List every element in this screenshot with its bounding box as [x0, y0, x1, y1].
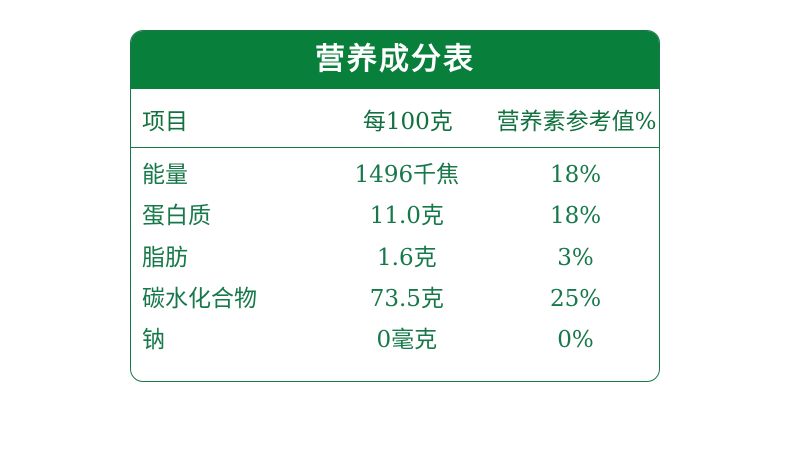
row-nrv: 0% — [490, 319, 659, 360]
row-amount: 0毫克 — [332, 319, 490, 360]
table-header: 项目 每100克 营养素参考值% — [131, 89, 659, 148]
page-title: 营养成分表 — [315, 45, 475, 75]
row-label: 蛋白质 — [131, 195, 332, 236]
table-row: 脂肪 1.6克 3% — [131, 237, 659, 278]
row-label: 能量 — [131, 148, 332, 196]
column-header-item: 项目 — [131, 89, 332, 148]
nutrition-facts-card: 营养成分表 项目 每100克 营养素参考值% 能量 1496千焦 18% 蛋白质… — [130, 30, 660, 382]
row-nrv: 3% — [490, 237, 659, 278]
table-row: 蛋白质 11.0克 18% — [131, 195, 659, 236]
row-label: 碳水化合物 — [131, 278, 332, 319]
row-label: 脂肪 — [131, 237, 332, 278]
card-header: 营养成分表 — [131, 31, 659, 89]
table-row: 钠 0毫克 0% — [131, 319, 659, 360]
row-amount: 1496千焦 — [332, 148, 490, 196]
row-nrv: 25% — [490, 278, 659, 319]
row-label: 钠 — [131, 319, 332, 360]
table-row: 能量 1496千焦 18% — [131, 148, 659, 196]
table-row: 碳水化合物 73.5克 25% — [131, 278, 659, 319]
table-body: 能量 1496千焦 18% 蛋白质 11.0克 18% 脂肪 1.6克 3% 碳… — [131, 148, 659, 361]
row-amount: 73.5克 — [332, 278, 490, 319]
nutrition-table: 项目 每100克 营养素参考值% 能量 1496千焦 18% 蛋白质 11.0克… — [131, 89, 659, 361]
row-nrv: 18% — [490, 148, 659, 196]
column-header-nrv: 营养素参考值% — [490, 89, 659, 148]
row-nrv: 18% — [490, 195, 659, 236]
table-header-row: 项目 每100克 营养素参考值% — [131, 89, 659, 148]
row-amount: 11.0克 — [332, 195, 490, 236]
column-header-per100g: 每100克 — [332, 89, 490, 148]
row-amount: 1.6克 — [332, 237, 490, 278]
